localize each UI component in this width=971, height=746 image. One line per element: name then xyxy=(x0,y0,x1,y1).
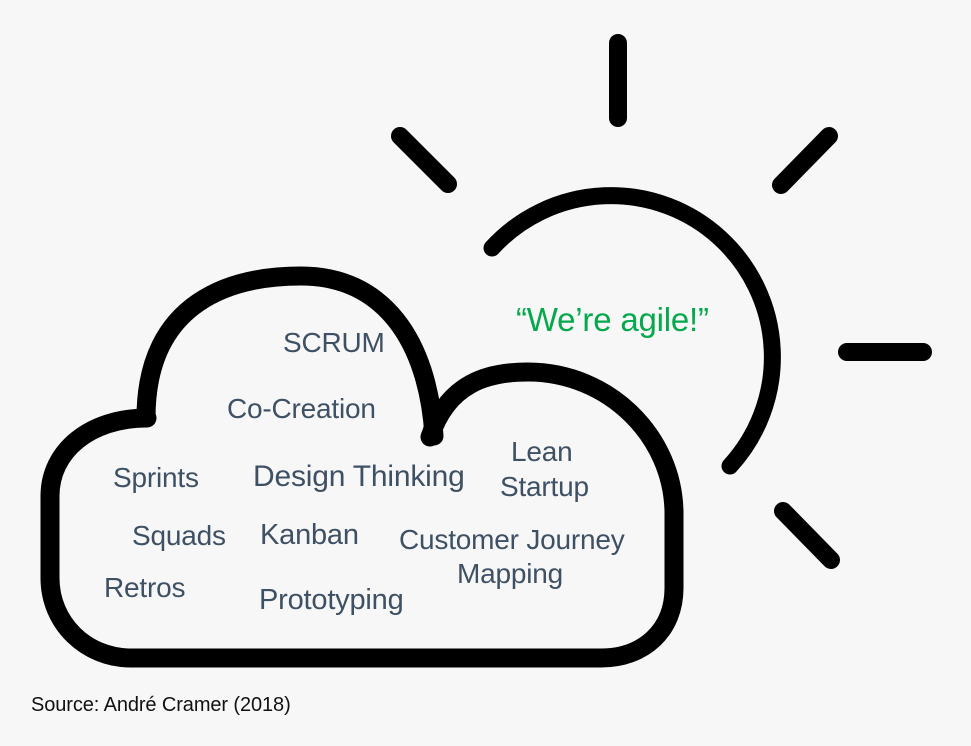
cloud-word-kanban: Kanban xyxy=(260,520,359,551)
ray-upper-left-icon xyxy=(400,136,448,184)
cloud-word-co-creation: Co-Creation xyxy=(227,394,376,424)
ray-lower-right-icon xyxy=(783,511,831,560)
agile-quote-text: “We’re agile!” xyxy=(516,301,709,339)
cloud-word-prototyping: Prototyping xyxy=(259,585,404,616)
cloud-word-mapping: Mapping xyxy=(457,559,563,589)
cloud-word-squads: Squads xyxy=(132,521,226,551)
illustration-svg xyxy=(0,0,971,746)
cloud-word-sprints: Sprints xyxy=(113,463,199,493)
cloud-word-retros: Retros xyxy=(104,573,185,603)
cloud-word-scrum: SCRUM xyxy=(283,328,385,358)
cloud-word-design-thinking: Design Thinking xyxy=(253,461,465,493)
cloud-word-lean: Lean xyxy=(511,437,573,467)
ray-upper-right-icon xyxy=(781,136,829,185)
cloud-word-customer-journey: Customer Journey xyxy=(399,525,625,555)
figure-canvas: “We’re agile!” SCRUM Co-Creation Sprints… xyxy=(0,0,971,746)
cloud-word-startup: Startup xyxy=(500,472,589,502)
source-caption: Source: André Cramer (2018) xyxy=(31,694,291,717)
